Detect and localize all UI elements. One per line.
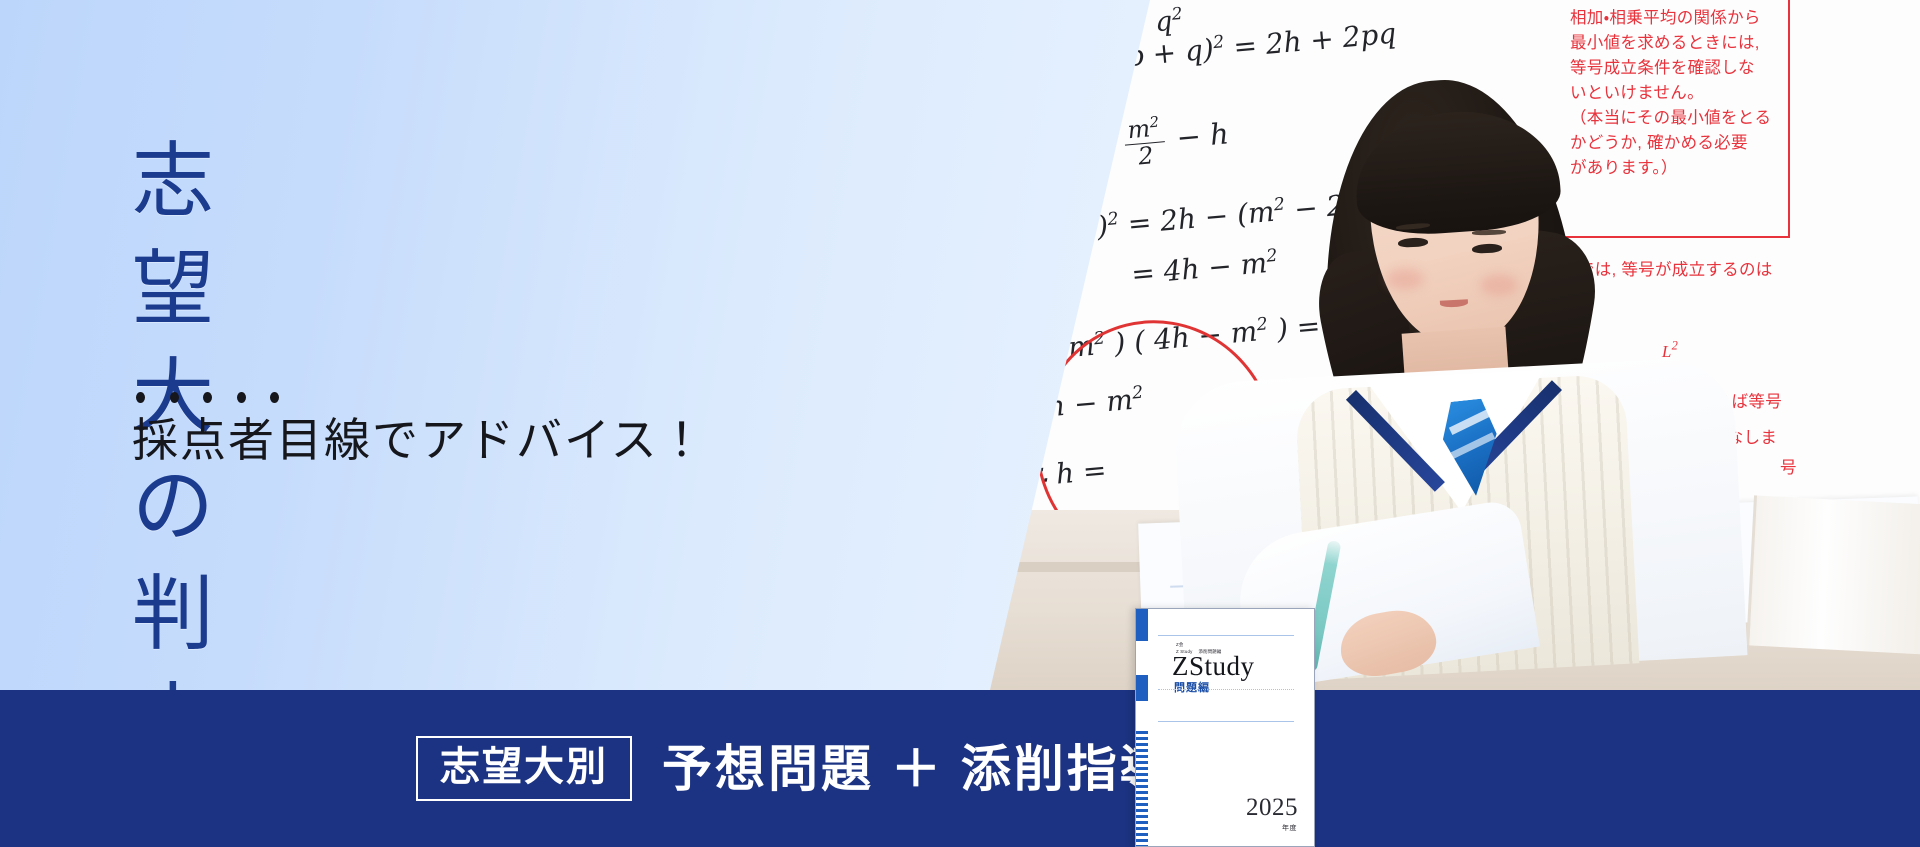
cheek-left bbox=[1386, 268, 1424, 290]
book-spine-block-3 bbox=[1136, 731, 1148, 847]
emphasis-dot bbox=[136, 392, 145, 403]
book-rule-top bbox=[1158, 635, 1294, 636]
emphasis-dot bbox=[170, 392, 179, 403]
subheadline: 採点者目線でアドバイス！ bbox=[132, 418, 707, 464]
emphasis-dot bbox=[203, 392, 212, 403]
emphasis-dot bbox=[237, 392, 246, 403]
target-university-tag: 志望大別 bbox=[416, 736, 632, 801]
emphasis-dots bbox=[136, 392, 279, 403]
zstudy-book-cover: Z会 Z Study 添削問題編 ZStudy 問題編 2025 年度 bbox=[1135, 608, 1315, 847]
promo-banner: = p2 + q2 m2 = (p + q)2 = 2h + 2pq ) pq … bbox=[0, 0, 1920, 847]
book-rule-mid bbox=[1158, 689, 1294, 690]
book-year-unit: 年度 bbox=[1282, 825, 1297, 832]
cheek-right bbox=[1480, 274, 1518, 296]
offer-text: 予想問題 ＋ 添削指導 bbox=[662, 744, 1173, 794]
red-annotation-main: 相加・相乗平均の関係から 最小値を求めるときには, 等号成立条件を確認しな いと… bbox=[1570, 6, 1840, 182]
emphasis-dot bbox=[270, 392, 279, 403]
book-spine-block-1 bbox=[1136, 609, 1148, 641]
bottom-bar-content: 志望大別 予想問題 ＋ 添削指導 bbox=[416, 690, 1173, 847]
open-textbook bbox=[1746, 495, 1920, 654]
book-spine bbox=[1136, 609, 1148, 847]
book-rule-bottom bbox=[1158, 721, 1294, 722]
book-logo: ZStudy bbox=[1172, 653, 1255, 680]
bottom-navy-bar: 志望大別 予想問題 ＋ 添削指導 bbox=[0, 690, 1920, 847]
subheadline-wrap: 採点者目線でアドバイス！ bbox=[132, 418, 707, 464]
book-spine-block-2 bbox=[1136, 675, 1148, 701]
red-annotation-line5: 号 bbox=[1780, 456, 1797, 481]
red-annotation-line2: では, 等号が成立するのは bbox=[1578, 258, 1773, 283]
book-year: 2025 bbox=[1246, 795, 1298, 820]
